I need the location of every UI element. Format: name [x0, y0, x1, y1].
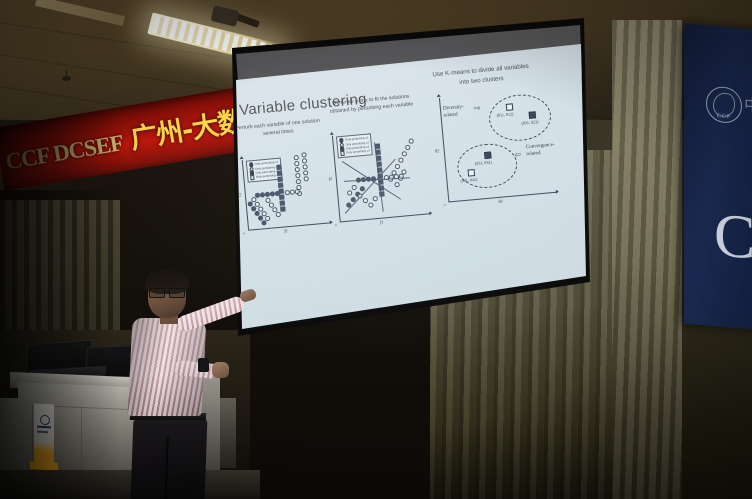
chart-fit-lines: f2 f1 o Only perturbing x1 Only perturbi…	[326, 125, 434, 230]
chart3-x-arrow-icon	[556, 189, 559, 193]
curtain-right	[612, 20, 682, 499]
chart2-x-axis	[340, 213, 430, 222]
presenter-trousers	[131, 419, 208, 499]
blue-ccf-banner: CCF 中 C C	[684, 23, 752, 330]
marker-open-square-icon	[340, 151, 345, 156]
chart2-points-rising	[326, 125, 426, 134]
presentation-clicker	[198, 358, 209, 372]
chart3-ylabel: θ2	[434, 148, 439, 153]
chart2-points-falling	[326, 125, 426, 134]
chart2-points-column	[326, 125, 426, 134]
cluster-point-open-1	[506, 103, 514, 111]
cluster-ellipse-convergence	[455, 141, 519, 190]
caption-kmeans: Use K-means to divide all variables into…	[426, 61, 535, 90]
chart1-y-arrow-icon	[239, 156, 243, 159]
chart2-points-row	[326, 125, 426, 134]
chart2-legend: Only perturbing x1 Only perturbing x2 On…	[336, 133, 373, 158]
chart2-y-arrow-icon	[330, 132, 334, 135]
caption-perturb: Perturb each variable of one solution se…	[234, 117, 321, 141]
banner-blue-letter: C	[714, 204, 752, 270]
ccf-logo-icon: CCF	[706, 85, 742, 124]
chart3-origin: o	[443, 203, 445, 207]
chart2-x-arrow-icon	[429, 211, 432, 215]
chart1-points-filled-column	[236, 150, 328, 158]
floor-standing-sign	[34, 403, 54, 466]
chart1-points-vertical	[236, 150, 328, 158]
chart2-origin: o	[335, 223, 337, 227]
chart-kmeans-clusters: θ2 θ1 o (θ11, θ12) (θ21, θ22) (θ31, θ32)…	[429, 85, 565, 214]
chart1-x-arrow-icon	[330, 220, 333, 224]
banner-blue-chinese: 中	[744, 91, 752, 117]
chart3-xlabel: θ1	[498, 199, 503, 204]
sign-text-bar-2	[37, 431, 48, 433]
cluster-point-filled-2	[484, 151, 492, 159]
presenter	[112, 270, 252, 499]
presenter-pointing-arm	[175, 295, 246, 334]
arrow-convergence-icon: ⇦	[514, 151, 521, 160]
chart1-points-diagonals	[236, 150, 328, 158]
presenter-holding-hand	[212, 362, 229, 378]
annotation-diversity-related: Diversity-related	[443, 103, 474, 120]
chart1-xlabel: f1	[284, 228, 288, 233]
cluster-point-filled-1	[529, 111, 537, 119]
chart3-y-arrow-icon	[437, 94, 441, 97]
smoke-detector-icon	[62, 76, 71, 81]
chart2-ylabel: f2	[329, 176, 333, 181]
chart-perturb: f2 f1 o Only perturbing x1 Only perturbi…	[236, 150, 335, 236]
chart1-x-axis	[248, 222, 330, 230]
glasses-icon	[149, 288, 185, 296]
annotation-convergence-related: Convergence-related	[525, 141, 560, 159]
sign-text-bar	[37, 426, 51, 429]
chart1-origin: o	[243, 231, 245, 235]
arrow-diversity-icon: ⇨	[474, 104, 481, 113]
sign-logo-icon	[40, 415, 50, 426]
chart2-xlabel: f1	[380, 220, 384, 225]
cluster-point-open-2	[468, 169, 476, 177]
marker-open-square-icon	[250, 175, 255, 180]
chart1-points-horizontal	[236, 150, 328, 158]
lecture-hall-photo: CCF DCSEF 广州-大数据与计算 CCF 中 C C Variable c…	[0, 0, 752, 499]
ccf-logo-label: CCF	[707, 112, 741, 121]
projection-screen: Variable clustering Perturb each variabl…	[218, 18, 590, 336]
